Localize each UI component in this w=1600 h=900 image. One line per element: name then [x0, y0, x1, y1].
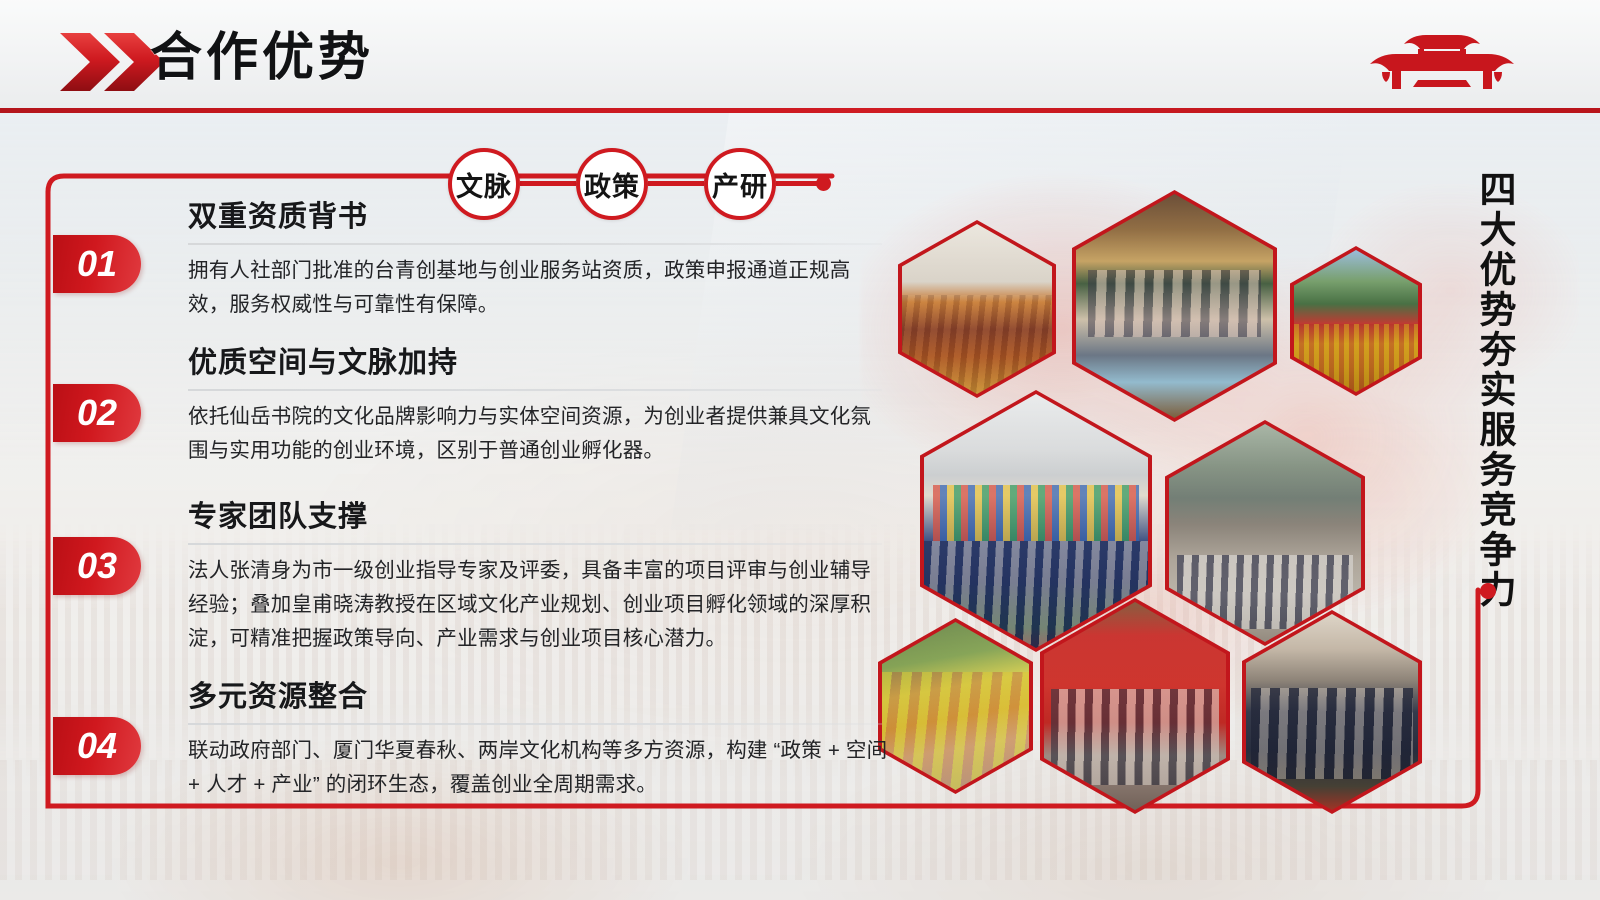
red-dot-icon [1480, 583, 1496, 599]
slide-root: 合作优势 [0, 0, 1600, 900]
badge-connector-line-1 [520, 181, 576, 186]
item-separator [188, 543, 882, 545]
item-text-block: 优质空间与文脉加持 依托仙岳书院的文化品牌影响力与实体空间资源，为创业者提供兼具… [188, 346, 888, 468]
photo-hexagon[interactable] [898, 220, 1056, 398]
item-body: 拥有人社部门批准的台青创基地与创业服务站资质，政策申报通道正规高效，服务权威性与… [188, 254, 888, 322]
item-number-badge: 02 [53, 384, 141, 442]
item-title: 优质空间与文脉加持 [188, 346, 888, 380]
item-text-block: 双重资质背书 拥有人社部门批准的台青创基地与创业服务站资质，政策申报通道正规高效… [188, 200, 888, 322]
photo-hexagon[interactable] [1072, 190, 1277, 422]
item-number-badge: 04 [53, 717, 141, 775]
advantages-list: 01 双重资质背书 拥有人社部门批准的台青创基地与创业服务站资质，政策申报通道正… [48, 196, 888, 828]
item-separator [188, 243, 882, 245]
item-title: 双重资质背书 [188, 200, 888, 234]
photo-gallery [860, 178, 1480, 838]
item-body: 依托仙岳书院的文化品牌影响力与实体空间资源，为创业者提供兼具文化氛围与实用功能的… [188, 400, 888, 468]
photo-hexagon[interactable] [1290, 246, 1422, 396]
item-text-block: 专家团队支撑 法人张清身为市一级创业指导专家及评委，具备丰富的项目评审与创业辅导… [188, 500, 888, 656]
red-dot-icon [816, 176, 831, 191]
header-divider [0, 108, 1600, 113]
list-item: 02 优质空间与文脉加持 依托仙岳书院的文化品牌影响力与实体空间资源，为创业者提… [48, 346, 888, 496]
item-body: 联动政府部门、厦门华夏春秋、两岸文化机构等多方资源，构建 “政策 + 空间 + … [188, 734, 888, 802]
item-body: 法人张清身为市一级创业指导专家及评委，具备丰富的项目评审与创业辅导经验；叠加皇甫… [188, 554, 888, 656]
item-number-badge: 03 [53, 537, 141, 595]
page-title: 合作优势 [150, 24, 374, 92]
item-title: 多元资源整合 [188, 680, 888, 714]
vertical-headline: 四大优势夯实服务竞争力 [1462, 170, 1514, 610]
badge-connector-line-2 [648, 181, 704, 186]
list-item: 04 多元资源整合 联动政府部门、厦门华夏春秋、两岸文化机构等多方资源，构建 “… [48, 678, 888, 828]
list-item: 03 专家团队支撑 法人张清身为市一级创业指导专家及评委，具备丰富的项目评审与创… [48, 496, 888, 678]
item-title: 专家团队支撑 [188, 500, 888, 534]
list-item: 01 双重资质背书 拥有人社部门批准的台青创基地与创业服务站资质，政策申报通道正… [48, 196, 888, 346]
item-separator [188, 723, 882, 725]
photo-hexagon[interactable] [878, 618, 1033, 794]
item-number-badge: 01 [53, 235, 141, 293]
item-text-block: 多元资源整合 联动政府部门、厦门华夏春秋、两岸文化机构等多方资源，构建 “政策 … [188, 680, 888, 802]
slide-header: 合作优势 [0, 0, 1600, 112]
item-separator [188, 389, 882, 391]
chinese-gate-pavilion-icon [1352, 22, 1532, 92]
